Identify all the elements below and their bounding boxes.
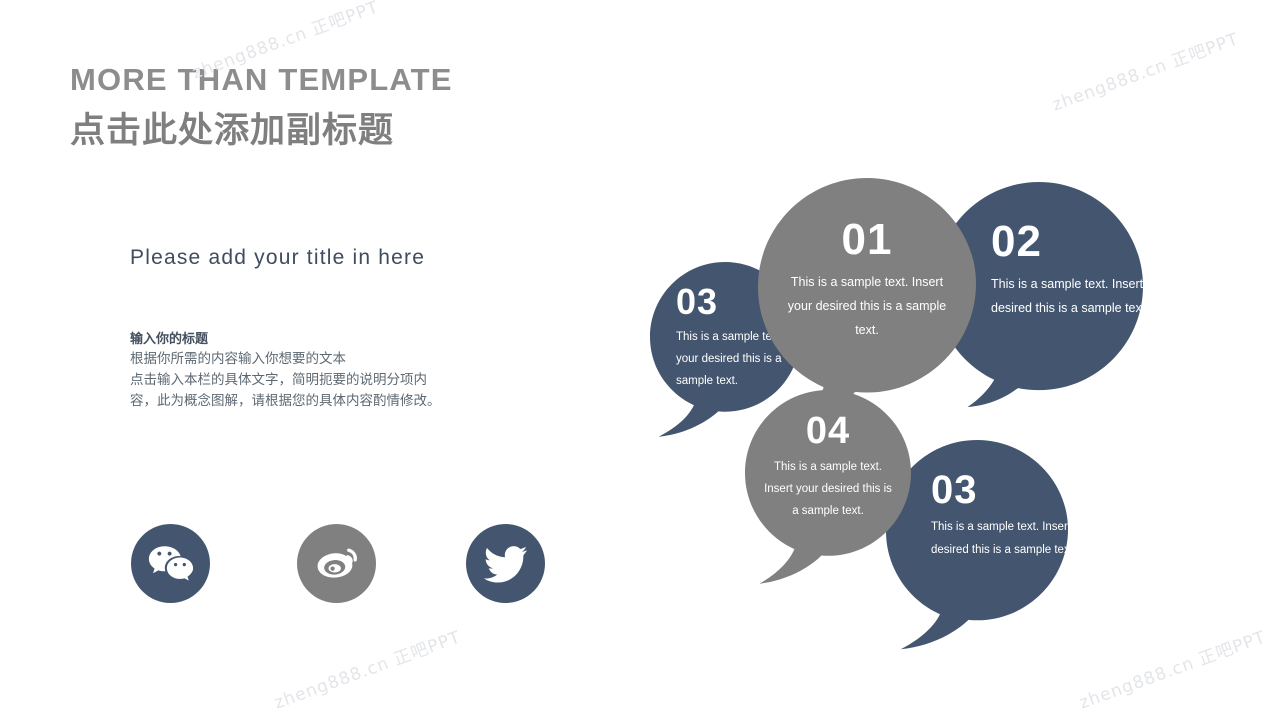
watermark: zheng888.cn 正吧PPT	[1048, 25, 1242, 116]
body-copy-line: 点击输入本栏的具体文字，简明扼要的说明分项内	[130, 369, 470, 390]
body-copy-line: 容，此为概念图解，请根据您的具体内容酌情修改。	[130, 390, 470, 411]
page-subtitle-chinese: 点击此处添加副标题	[70, 102, 394, 153]
social-link-weibo[interactable]	[297, 524, 376, 603]
speech-bubble-01[interactable]: 01 This is a sample text. Insert your de…	[758, 178, 976, 396]
section-sub-heading: 输入你的标题	[130, 328, 208, 347]
bubble-shape-04	[745, 390, 911, 595]
twitter-icon	[484, 545, 528, 583]
speech-bubble-04[interactable]: 04 This is a sample text. Insert your de…	[745, 390, 911, 556]
lead-title: Please add your title in here	[130, 246, 425, 270]
weibo-icon	[314, 543, 360, 585]
page-title-english: MORE THAN TEMPLATE	[70, 62, 453, 98]
body-copy-line: 根据你所需的内容输入你想要的文本	[130, 348, 470, 369]
social-link-wechat[interactable]	[131, 524, 210, 603]
body-copy: 根据你所需的内容输入你想要的文本 点击输入本栏的具体文字，简明扼要的说明分项内 …	[130, 348, 470, 411]
bubble-shape-03-right	[886, 440, 1068, 655]
social-link-twitter[interactable]	[466, 524, 545, 603]
slide-canvas: MORE THAN TEMPLATE 点击此处添加副标题 Please add …	[0, 0, 1280, 720]
wechat-icon	[148, 544, 194, 584]
speech-bubble-03-right[interactable]: 03 This is a sample text. Insert your de…	[886, 440, 1068, 622]
watermark: zheng888.cn 正吧PPT	[270, 623, 464, 714]
watermark: zheng888.cn 正吧PPT	[1075, 623, 1269, 714]
